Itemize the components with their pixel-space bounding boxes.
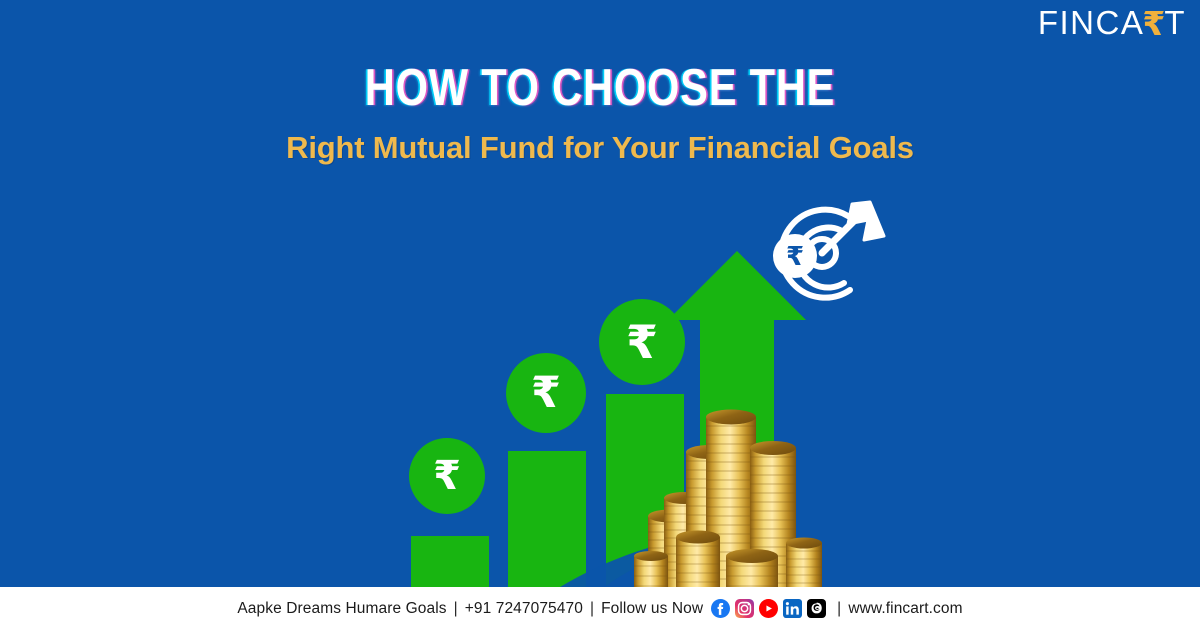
logo-text-part1: FINCA: [1038, 6, 1145, 39]
headline-block: HOW TO CHOOSE THE Right Mutual Fund for …: [0, 58, 1200, 166]
linkedin-icon[interactable]: [783, 599, 802, 618]
footer-bar: Aapke Dreams Humare Goals | +91 72470754…: [0, 587, 1200, 630]
coin-stack-9: [726, 549, 778, 590]
rupee-badge-1: ₹: [409, 438, 485, 514]
page-title-line2: Right Mutual Fund for Your Financial Goa…: [0, 130, 1200, 166]
coin-stack-7: [676, 531, 720, 591]
svg-text:₹: ₹: [786, 242, 804, 272]
instagram-icon[interactable]: [735, 599, 754, 618]
footer-tagline: Aapke Dreams Humare Goals: [237, 600, 446, 618]
threads-icon[interactable]: [807, 599, 826, 618]
fincart-logo[interactable]: FINCA ₹ T: [1038, 6, 1186, 39]
footer-separator-2: |: [583, 600, 601, 618]
footer-follow-label: Follow us Now: [601, 600, 703, 618]
page-title-line1: HOW TO CHOOSE THE: [120, 58, 1080, 118]
social-icon-row: [711, 599, 826, 618]
svg-text:₹: ₹: [531, 368, 561, 418]
svg-text:₹: ₹: [433, 453, 461, 499]
poster-canvas: FINCA ₹ T HOW TO CHOOSE THE Right Mutual…: [0, 0, 1200, 630]
target-rupee-coin: ₹: [773, 234, 817, 278]
youtube-icon[interactable]: [759, 599, 778, 618]
footer-separator-1: |: [447, 600, 465, 618]
footer-separator-3: |: [830, 600, 848, 618]
coin-stack-10: [634, 551, 668, 590]
svg-text:₹: ₹: [626, 315, 658, 369]
facebook-icon[interactable]: [711, 599, 730, 618]
bar-1: [411, 536, 489, 590]
footer-phone[interactable]: +91 7247075470: [465, 600, 583, 618]
rupee-badge-3: ₹: [599, 299, 685, 385]
rupee-badge-2: ₹: [506, 353, 586, 433]
logo-text-part2: T: [1164, 6, 1186, 39]
footer-website[interactable]: www.fincart.com: [848, 600, 962, 618]
coin-stack-8: [786, 538, 822, 591]
rupee-icon-logo: ₹: [1142, 7, 1165, 40]
footer-content: Aapke Dreams Humare Goals | +91 72470754…: [237, 599, 962, 618]
bar-2: [508, 451, 586, 590]
